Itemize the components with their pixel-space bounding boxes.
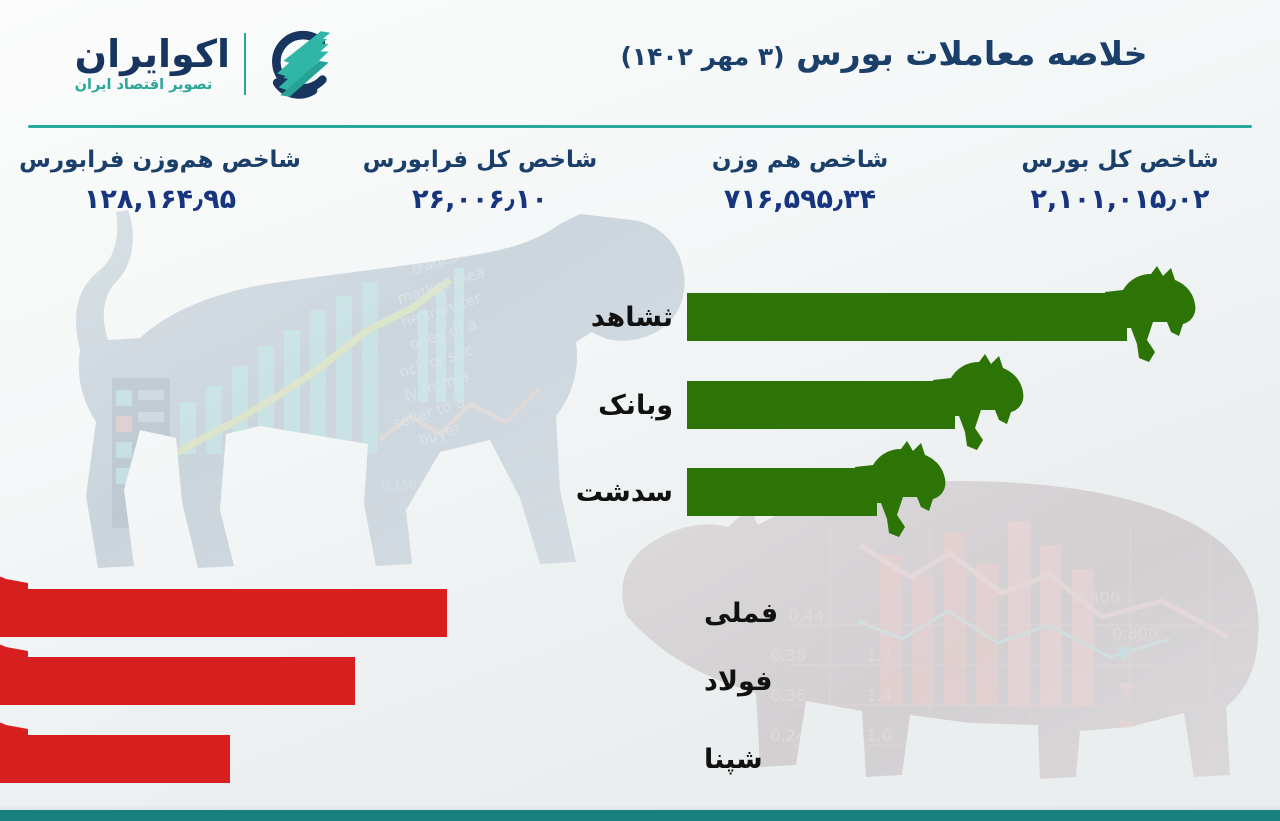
footer-bar: [0, 810, 1280, 821]
chart-row-positive: سدشت: [687, 468, 877, 516]
stat-total-index: شاخص کل بورس ۲,۱۰۱,۰۱۵٫۰۲: [960, 142, 1280, 247]
stat-value: ۷۱۶,۵۹۵٫۳۴: [640, 184, 960, 215]
stat-value: ۲۶,۰۰۶٫۱۰: [320, 184, 640, 215]
bear-icon: [0, 713, 28, 805]
stat-label: شاخص کل بورس: [960, 146, 1280, 175]
effect-on-index-bar-chart: ثشاهد وبانک سدشت: [0, 262, 1280, 807]
row-label: فولاد: [704, 666, 773, 697]
row-label: سدشت: [576, 477, 673, 508]
brand-tagline: تصویر اقتصاد ایران: [75, 77, 213, 93]
chart-row-negative: فملی: [0, 589, 686, 637]
header-divider: [28, 125, 1252, 128]
stat-value: ۲,۱۰۱,۰۱۵٫۰۲: [960, 184, 1280, 215]
bar-negative: [0, 657, 355, 705]
bull-icon: [855, 441, 951, 545]
chart-row-positive: وبانک: [687, 381, 955, 429]
bull-icon: [1105, 266, 1201, 370]
index-stats-row: شاخص کل بورس ۲,۱۰۱,۰۱۵٫۰۲ شاخص هم وزن ۷۱…: [0, 142, 1280, 247]
bar-negative: [0, 589, 447, 637]
row-label: ثشاهد: [591, 302, 673, 333]
stat-farabourse-equal-weight-index: شاخص هم‌وزن فرابورس ۱۲۸,۱۶۴٫۹۵: [0, 142, 320, 247]
bar-positive: [687, 468, 877, 516]
bar-positive: [687, 293, 1127, 341]
header: اکوایران تصویر اقتصاد ایران خلاصه معاملا…: [0, 0, 1280, 127]
chart-row-positive: ثشاهد: [687, 293, 1127, 341]
bar-negative: [0, 735, 230, 783]
bar-positive: [687, 381, 955, 429]
chart-row-negative: شپنا: [0, 735, 686, 783]
stat-value: ۱۲۸,۱۶۴٫۹۵: [0, 184, 320, 215]
page-title: خلاصه معاملات بورس (۳ مهر ۱۴۰۲): [524, 34, 1244, 73]
page-title-date: (۳ مهر ۱۴۰۲): [620, 42, 784, 71]
page-title-main: خلاصه معاملات بورس: [796, 34, 1147, 73]
row-label: وبانک: [598, 390, 673, 421]
circular-swoosh-logo-icon: [260, 22, 338, 106]
brand-wordmark: اکوایران تصویر اقتصاد ایران: [75, 35, 230, 94]
stat-equal-weight-index: شاخص هم وزن ۷۱۶,۵۹۵٫۳۴: [640, 142, 960, 247]
stat-label: شاخص هم وزن: [640, 146, 960, 175]
logo-divider: [244, 33, 246, 95]
chart-row-negative: فولاد: [0, 657, 686, 705]
stat-label: شاخص کل فرابورس: [320, 146, 640, 175]
brand-name: اکوایران: [75, 35, 230, 75]
infographic-canvas: trades in a market mea he transfer oney …: [0, 0, 1280, 821]
brand-logo[interactable]: اکوایران تصویر اقتصاد ایران: [18, 14, 338, 114]
row-label: فملی: [704, 598, 778, 629]
stat-farabourse-total-index: شاخص کل فرابورس ۲۶,۰۰۶٫۱۰: [320, 142, 640, 247]
row-label: شپنا: [704, 744, 763, 775]
stat-label: شاخص هم‌وزن فرابورس: [0, 146, 320, 175]
